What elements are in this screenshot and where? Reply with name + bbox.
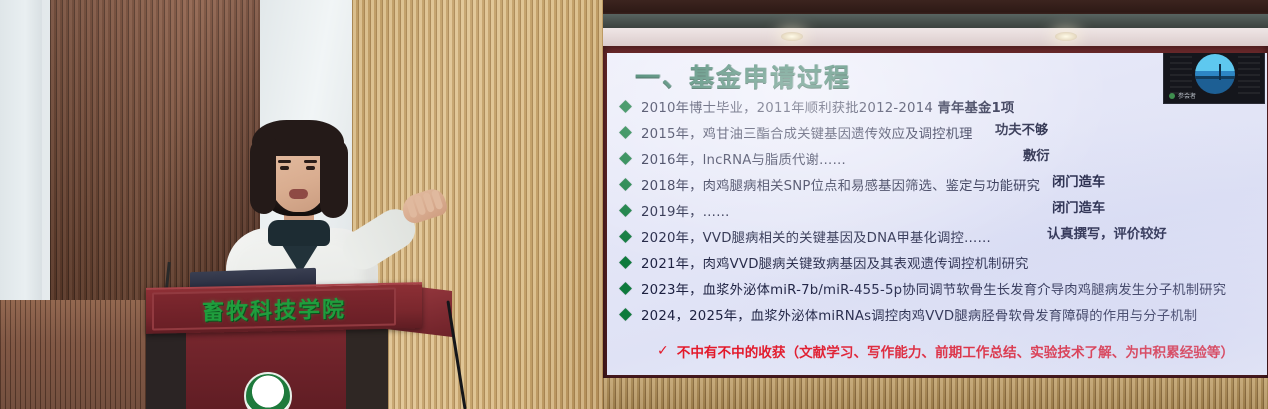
bullet-text: 2021年，肉鸡VVD腿病关键致病基因及其表观遗传调控机制研究 [641, 253, 1029, 272]
bullet-text: 2019年，…… [641, 201, 730, 220]
annotation-note: 敷衍 [1023, 145, 1050, 164]
diamond-bullet-icon [619, 126, 632, 139]
speaker-eye-left [280, 166, 289, 170]
footnote-text: 不中有不中的收获（文献学习、写作能力、前期工作总结、实验技术了解、为中积累经验等… [677, 341, 1234, 361]
speaker-eyebrow-right [304, 160, 317, 163]
podium-sign-text: 畜牧科技学院 [202, 291, 346, 326]
ceiling-band [603, 14, 1268, 28]
diamond-bullet-icon [619, 178, 632, 191]
presentation-slide: 一、基金申请过程 参会者 2010年博士毕业，2011年顺利获批2012-201… [607, 53, 1267, 375]
bullet-text: 2016年，lncRNA与脂质代谢…… [641, 149, 846, 168]
speaker-hair-right [320, 138, 348, 218]
bullet-text: 2020年，VVD腿病相关的关键基因及DNA甲基化调控…… [641, 227, 991, 246]
ceiling-downlight [1055, 32, 1077, 41]
list-item: 2024，2025年，血浆外泌体miRNAs调控肉鸡VVD腿病胫骨软骨发育障碍的… [621, 301, 1267, 327]
annotation-note: 认真撰写，评价较好 [1047, 223, 1167, 242]
list-item: 2021年，肉鸡VVD腿病关键致病基因及其表观遗传调控机制研究 [621, 249, 1267, 275]
diamond-bullet-icon [619, 256, 632, 269]
speaker-eyebrow-left [278, 160, 291, 163]
slide-title: 一、基金申请过程 [635, 58, 851, 94]
ceiling-soffit [603, 28, 1268, 48]
list-item: 2010年博士毕业，2011年顺利获批2012-2014 青年基金1项 [621, 93, 1267, 119]
list-item: 2015年，鸡甘油三酯合成关键基因遗传效应及调控机理 [621, 119, 1267, 145]
vc-background-stripe-left [1170, 56, 1192, 94]
vc-background-stripe-right [1238, 56, 1260, 94]
slide-bullet-list: 2010年博士毕业，2011年顺利获批2012-2014 青年基金1项 2015… [621, 93, 1267, 327]
podium-sign: 畜牧科技学院 [152, 287, 396, 330]
speaker-raised-hand [399, 186, 449, 226]
speaker-photo-region: 畜牧科技学院 [0, 0, 603, 409]
speaker-mouth [289, 189, 308, 199]
speaker-hair-left [250, 138, 276, 214]
check-icon: ✓ [657, 343, 669, 359]
annotation-note: 闭门造车 [1052, 197, 1105, 216]
bullet-text: 2018年，肉鸡腿病相关SNP位点和易感基因筛选、鉴定与功能研究 [641, 175, 1040, 194]
podium-shadow-right [344, 322, 388, 409]
diamond-bullet-icon [619, 152, 632, 165]
wall-wood-below-screen [603, 378, 1268, 409]
bullet-text: 2015年，鸡甘油三酯合成关键基因遗传效应及调控机理 [641, 123, 973, 142]
annotation-note: 闭门造车 [1052, 171, 1105, 190]
bullet-text: 2010年博士毕业，2011年顺利获批2012-2014 [641, 101, 937, 116]
diamond-bullet-icon [619, 100, 632, 113]
diamond-bullet-icon [619, 308, 632, 321]
slide-footnote: ✓ 不中有不中的收获（文献学习、写作能力、前期工作总结、实验技术了解、为中积累经… [657, 341, 1234, 361]
list-item: 2019年，…… [621, 197, 1267, 223]
diamond-bullet-icon [619, 230, 632, 243]
list-item: 2020年，VVD腿病相关的关键基因及DNA甲基化调控…… [621, 223, 1267, 249]
bullet-text: 2023年，血浆外泌体miR-7b/miR-455-5p协同调节软骨生长发育介导… [641, 279, 1226, 298]
diamond-bullet-icon [619, 282, 632, 295]
bullet-text-emphasis: 青年基金1项 [937, 101, 1014, 116]
speaker-collar [268, 220, 330, 246]
diamond-bullet-icon [619, 204, 632, 217]
list-item: 2018年，肉鸡腿病相关SNP位点和易感基因筛选、鉴定与功能研究 [621, 171, 1267, 197]
list-item: 2023年，血浆外泌体miR-7b/miR-455-5p协同调节软骨生长发育介导… [621, 275, 1267, 301]
projection-screen-region: 一、基金申请过程 参会者 2010年博士毕业，2011年顺利获批2012-201… [603, 0, 1268, 409]
screenshot-scene: 畜牧科技学院 一、基金申请过程 参会者 [0, 0, 1268, 409]
list-item: 2016年，lncRNA与脂质代谢…… [621, 145, 1267, 171]
podium-shadow-left [146, 322, 188, 409]
avatar [1195, 54, 1235, 94]
annotation-note: 功夫不够 [995, 119, 1048, 138]
bullet-text: 2024，2025年，血浆外泌体miRNAs调控肉鸡VVD腿病胫骨软骨发育障碍的… [641, 305, 1197, 324]
ceiling-downlight [781, 32, 803, 41]
speaker-eye-right [306, 166, 315, 170]
